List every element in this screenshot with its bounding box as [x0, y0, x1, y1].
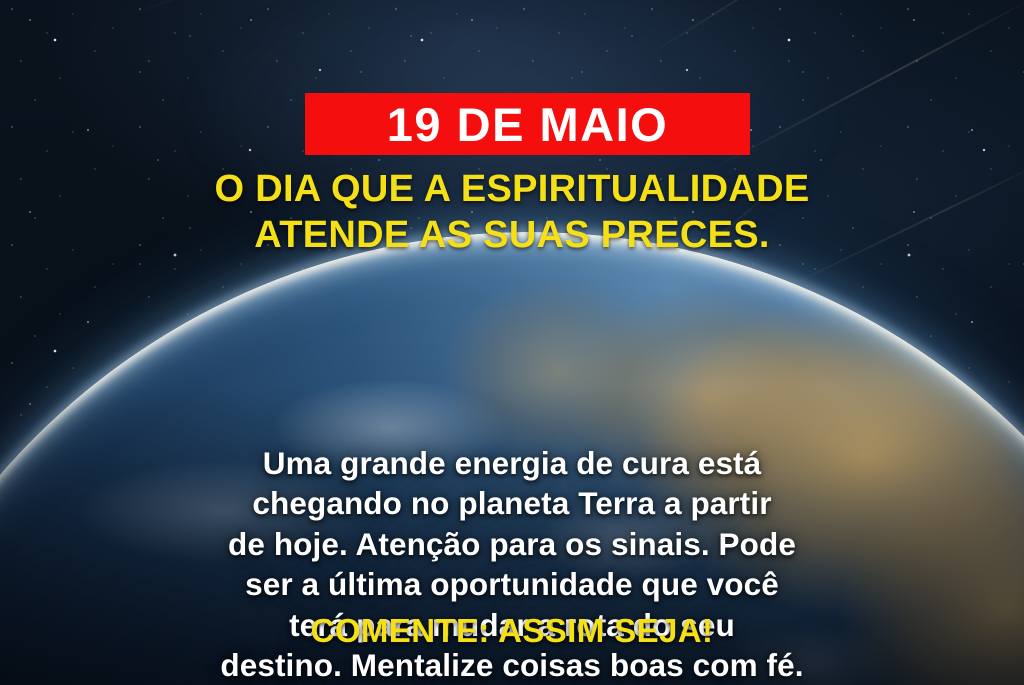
body-line-2: chegando no planeta Terra a partir — [0, 483, 1024, 523]
date-banner-text: 19 DE MAIO — [387, 101, 668, 148]
poster-canvas: 19 DE MAIO O DIA QUE A ESPIRITUALIDADE A… — [0, 0, 1024, 685]
body-line-6: destino. Mentalize coisas boas com fé. — [0, 645, 1024, 685]
headline-line-1: O DIA QUE A ESPIRITUALIDADE — [0, 166, 1024, 212]
poster-content: 19 DE MAIO O DIA QUE A ESPIRITUALIDADE A… — [0, 0, 1024, 685]
date-banner: 19 DE MAIO — [305, 93, 750, 155]
headline: O DIA QUE A ESPIRITUALIDADE ATENDE AS SU… — [0, 166, 1024, 259]
body-line-1: Uma grande energia de cura está — [0, 443, 1024, 483]
body-line-4: ser a última oportunidade que você — [0, 564, 1024, 604]
body-line-3: de hoje. Atenção para os sinais. Pode — [0, 524, 1024, 564]
headline-line-2: ATENDE AS SUAS PRECES. — [0, 212, 1024, 258]
call-to-action-text: COMENTE: ASSIM SEJA! — [0, 612, 1024, 650]
